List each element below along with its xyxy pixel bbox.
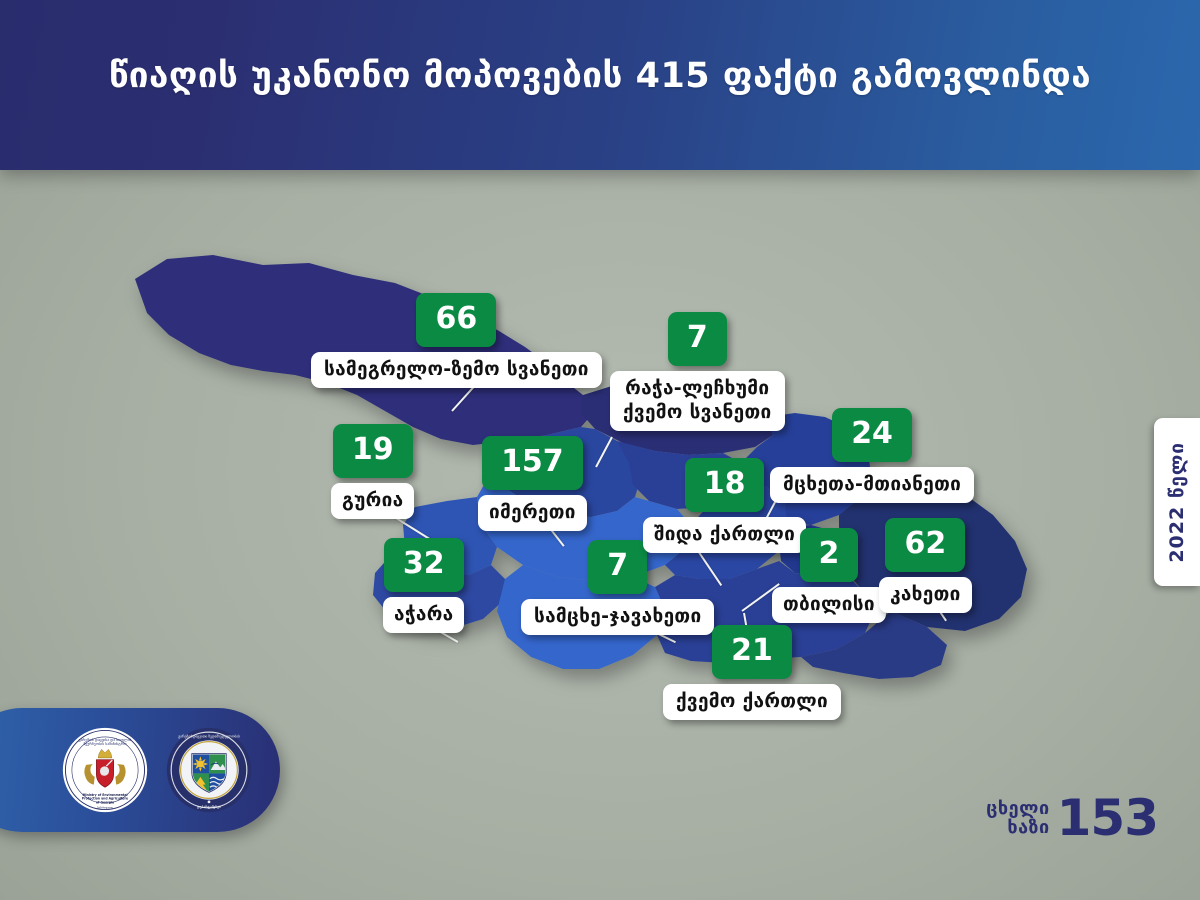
logo-bar: გარემოს დაცვისა და სოფლის მეურნეობის სამ…	[0, 708, 280, 832]
hotline-number: 153	[1057, 796, 1158, 840]
callout-imereti[interactable]: 157 იმერეთი	[478, 436, 587, 531]
region-value-badge: 32	[384, 538, 464, 592]
region-name-label: თბილისი	[772, 587, 886, 623]
callout-mtskheta-mtianeti[interactable]: 24 მცხეთა-მთიანეთი	[770, 408, 974, 503]
hotline-word-line2: ხაზი	[986, 818, 1049, 837]
callout-racha-lechkhumi-kvemo-svaneti[interactable]: 7 რაჭა-ლეჩხუმი ქვემო სვანეთი	[610, 312, 785, 431]
callout-samtskhe-javakheti[interactable]: 7 სამცხე-ჯავახეთი	[521, 540, 714, 635]
callout-guria[interactable]: 19 გურია	[331, 424, 414, 519]
svg-text:საქართველო: საქართველო	[97, 806, 113, 809]
region-name-label: მცხეთა-მთიანეთი	[770, 467, 974, 503]
region-value-badge: 19	[333, 424, 413, 478]
hotline-words: ცხელი ხაზი	[986, 799, 1049, 837]
region-value-badge: 157	[482, 436, 583, 490]
year-tab: 2022 წელი	[1154, 418, 1200, 586]
region-name-label: ქვემო ქართლი	[663, 684, 841, 720]
region-value-badge: 21	[712, 625, 792, 679]
callout-kakheti[interactable]: 62 კახეთი	[879, 518, 972, 613]
infographic-canvas: წიაღის უკანონო მოპოვების 415 ფაქტი გამოვ…	[0, 0, 1200, 900]
region-name-label: სამეგრელო-ზემო სვანეთი	[311, 352, 602, 388]
callout-adjara[interactable]: 32 აჭარა	[383, 538, 464, 633]
svg-text:გარემოსდაცვითი ზედამხედველობის: გარემოსდაცვითი ზედამხედველობის	[178, 734, 240, 738]
region-value-badge: 2	[800, 528, 859, 582]
page-title: წიაღის უკანონო მოპოვების 415 ფაქტი გამოვ…	[0, 54, 1200, 98]
year-label: 2022 წელი	[1166, 442, 1188, 563]
hotline-word-line1: ცხელი	[986, 799, 1049, 818]
callout-kvemo-kartli[interactable]: 21 ქვემო ქართლი	[663, 625, 841, 720]
svg-text:მეურნეობის სამინისტრო: მეურნეობის სამინისტრო	[84, 742, 127, 746]
environmental-supervision-emblem-icon: გარემოსდაცვითი ზედამხედველობის დეპარტამე…	[166, 727, 252, 813]
region-name-label: აჭარა	[383, 597, 464, 633]
ministry-emblem-icon: გარემოს დაცვისა და სოფლის მეურნეობის სამ…	[62, 727, 148, 813]
svg-text:გარემოს დაცვისა და სოფლის: გარემოს დაცვისა და სოფლის	[78, 738, 131, 742]
region-name-label: კახეთი	[879, 577, 972, 613]
callout-tbilisi[interactable]: 2 თბილისი	[772, 528, 886, 623]
region-value-badge: 62	[885, 518, 965, 572]
region-value-badge: 18	[685, 458, 765, 512]
svg-text:of Georgia: of Georgia	[96, 800, 114, 804]
header-banner: წიაღის უკანონო მოპოვების 415 ფაქტი გამოვ…	[0, 0, 1200, 170]
region-value-badge: 7	[588, 540, 647, 594]
svg-text:დეპარტამენტი: დეპარტამენტი	[197, 805, 221, 809]
callout-samegrelo-zemo-svaneti[interactable]: 66 სამეგრელო-ზემო სვანეთი	[311, 293, 602, 388]
region-name-label: იმერეთი	[478, 495, 587, 531]
region-value-badge: 7	[668, 312, 727, 366]
region-name-label: რაჭა-ლეჩხუმი ქვემო სვანეთი	[610, 371, 785, 431]
region-value-badge: 66	[416, 293, 496, 347]
hotline-block: ცხელი ხაზი 153	[986, 796, 1158, 840]
region-value-badge: 24	[832, 408, 912, 462]
region-name-label: გურია	[331, 483, 414, 519]
